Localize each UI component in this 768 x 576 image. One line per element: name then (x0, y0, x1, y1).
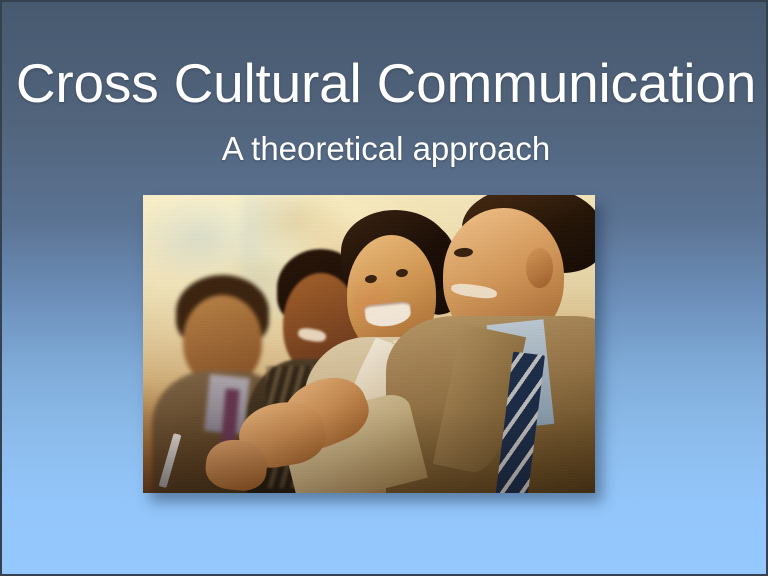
photo-canvas (143, 195, 595, 493)
slide-subtitle: A theoretical approach (2, 113, 768, 167)
page-title: Cross Cultural Communication (2, 2, 768, 113)
title-block: Cross Cultural Communication A theoretic… (2, 2, 768, 168)
presentation-slide: Cross Cultural Communication A theoretic… (0, 0, 768, 576)
title-photo (143, 195, 595, 493)
photo-grain (143, 195, 595, 493)
